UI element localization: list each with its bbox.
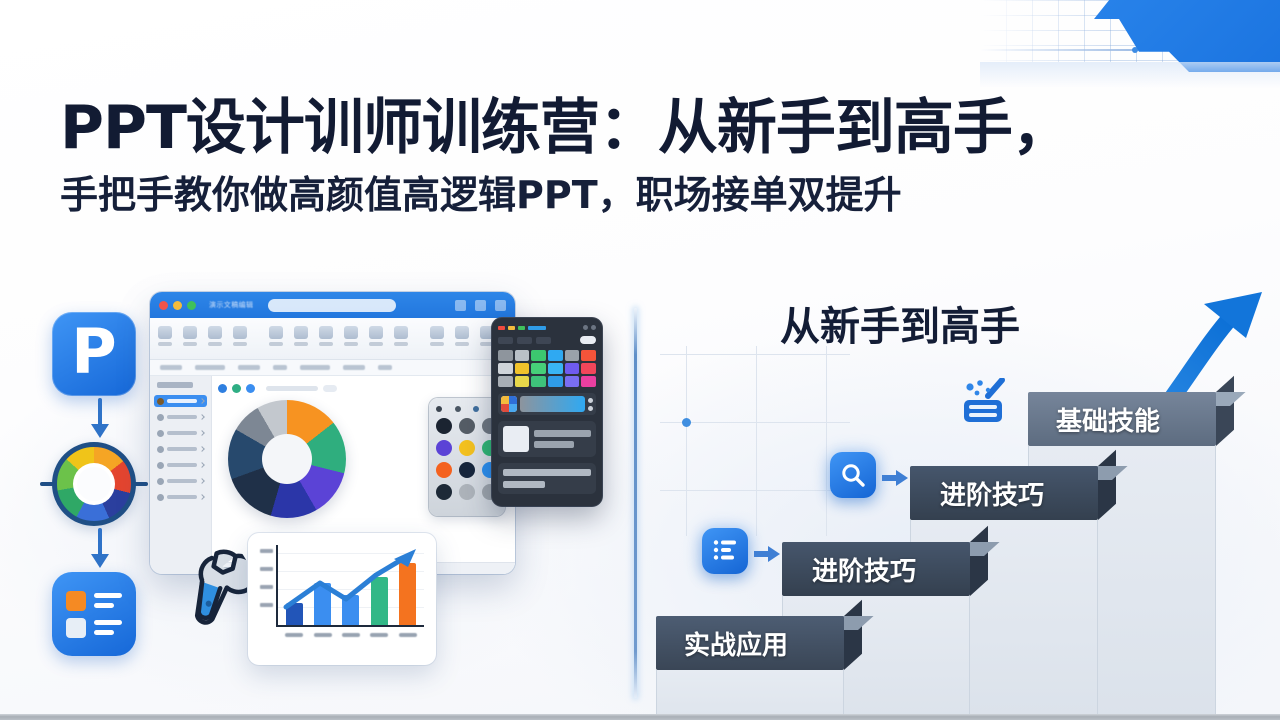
hairline (980, 49, 1140, 51)
x-label (370, 633, 388, 637)
wheel-center (77, 467, 111, 501)
tab-view[interactable] (378, 365, 392, 370)
brush-icon[interactable] (208, 326, 222, 352)
sidebar-item-label (167, 415, 197, 419)
panel-chip (498, 326, 505, 330)
tab-transition[interactable] (273, 365, 287, 370)
palette-cell[interactable] (498, 363, 513, 374)
preview-line (534, 441, 574, 448)
step-riser-1 (656, 670, 844, 720)
chevron-right-icon (199, 462, 205, 468)
bar-chart-card (248, 533, 436, 665)
detail-line (503, 469, 591, 476)
titlebar-actions (455, 300, 506, 311)
sidebar-bullet-icon (157, 414, 164, 421)
page-title: PPT设计训师训练营：从新手到高手， (60, 96, 1240, 161)
chevron-right-icon (199, 478, 205, 484)
palette-cell[interactable] (581, 350, 596, 361)
palette-cell[interactable] (515, 376, 530, 387)
redo-icon[interactable] (455, 326, 469, 352)
detail-line (503, 481, 545, 488)
sidebar-item-label (167, 479, 197, 483)
swatch-mini[interactable] (473, 406, 479, 412)
sidebar-item-5[interactable] (154, 475, 207, 487)
swatch-mini-row (436, 406, 498, 412)
chart-icon[interactable] (369, 326, 383, 352)
swatch-mini[interactable] (455, 406, 461, 412)
ribbon-tabs[interactable] (150, 360, 515, 376)
grid-line-vertical (686, 346, 687, 536)
shape-icon[interactable] (269, 326, 283, 352)
swatch[interactable] (459, 418, 475, 434)
layout-line (94, 620, 122, 625)
window-titlebar[interactable]: 演示文稿编辑 (150, 292, 515, 318)
palette-cell[interactable] (565, 363, 580, 374)
ribbon-toolbar[interactable] (150, 318, 515, 360)
gradient-stops[interactable] (588, 398, 593, 411)
x-label (314, 633, 332, 637)
bar (342, 595, 359, 625)
left-panel: P (0, 280, 630, 700)
growth-headline: 从新手到高手 (780, 294, 1020, 352)
swatch[interactable] (459, 484, 475, 500)
color-wheel-icon[interactable] (52, 442, 136, 526)
y-axis (276, 545, 278, 627)
search-icon-upper[interactable] (830, 452, 876, 498)
poster-canvas: PPT设计训师训练营：从新手到高手， 手把手教你做高颜值高逻辑PPT，职场接单双… (0, 0, 1280, 720)
preview-lines (534, 426, 591, 452)
layout-row-2 (66, 618, 122, 638)
chevron-right-icon (199, 494, 205, 500)
grid-line-vertical (756, 346, 757, 536)
palette-cell[interactable] (531, 376, 546, 387)
panel-tab-swatches[interactable] (498, 337, 513, 344)
arrow-right-icon-upper (882, 470, 908, 486)
grid-node-dot (682, 418, 691, 427)
grid-line-horizontal (660, 354, 850, 355)
swatch[interactable] (436, 484, 452, 500)
icon-flow-column: P (52, 312, 148, 656)
flow-arrow-down-2 (52, 526, 148, 572)
chevron-right-icon (199, 398, 205, 404)
corner-decoration (980, 0, 1280, 86)
app-window[interactable]: 演示文稿编辑 (150, 292, 515, 574)
swatch-preview-icon (501, 396, 517, 412)
preview-thumbnail (503, 426, 529, 452)
layout-square-accent (66, 591, 86, 611)
wheel-tick-right (134, 482, 148, 486)
right-panel: 从新手到高手 基础技能 (640, 280, 1280, 710)
paste-icon[interactable] (158, 326, 172, 352)
search-icon (840, 462, 866, 488)
bar (286, 603, 303, 625)
tool-select-icon[interactable] (218, 384, 227, 393)
grid-line-horizontal (660, 490, 850, 491)
panel-toggle[interactable] (580, 336, 596, 344)
y-axis-tick (260, 567, 273, 571)
gradient-stop[interactable] (588, 406, 593, 411)
swatch[interactable] (436, 462, 452, 478)
step-label-2[interactable]: 进阶技巧 (782, 542, 970, 596)
step-label-3[interactable]: 进阶技巧 (910, 466, 1098, 520)
x-label (342, 633, 360, 637)
sidebar-item-label (167, 447, 197, 451)
share-icon[interactable] (455, 300, 466, 311)
canvas-toolbar[interactable] (218, 382, 509, 394)
palette-cell[interactable] (515, 363, 530, 374)
palette-grid[interactable] (498, 350, 596, 387)
chevron-right-icon (199, 414, 205, 420)
sidebar-bullet-icon (157, 494, 164, 501)
swatch-row (436, 418, 498, 434)
image-icon[interactable] (319, 326, 333, 352)
cut-icon[interactable] (183, 326, 197, 352)
step-2: 进阶技巧 (782, 542, 970, 596)
chart-plot-area (260, 545, 424, 639)
panel-chip (518, 326, 525, 330)
y-axis-tick (260, 549, 273, 553)
palette-cell[interactable] (565, 376, 580, 387)
list-form-icon (711, 537, 739, 565)
layout-square-plain (66, 618, 86, 638)
bar (314, 583, 331, 625)
panel-tabs[interactable] (498, 336, 596, 344)
palette-cell[interactable] (581, 376, 596, 387)
swatch-row (436, 440, 498, 456)
swatch-mini[interactable] (436, 406, 442, 412)
bottom-rail (0, 714, 1280, 720)
preview-card (498, 421, 596, 457)
maximize-icon[interactable] (187, 301, 196, 310)
palette-cell[interactable] (531, 350, 546, 361)
tab-insert[interactable] (195, 365, 225, 370)
gradient-bar[interactable] (520, 396, 585, 412)
bar (371, 577, 388, 625)
chevron-right-icon (199, 430, 205, 436)
step-label-4[interactable]: 基础技能 (1028, 392, 1216, 446)
sidebar-item-label (167, 495, 197, 499)
table-icon[interactable] (344, 326, 358, 352)
page-subtitle: 手把手教你做高颜值高逻辑PPT，职场接单双提升 (60, 171, 1240, 220)
step-1: 实战应用 (656, 616, 844, 670)
search-input[interactable] (268, 299, 396, 312)
headline-block: PPT设计训师训练营：从新手到高手， 手把手教你做高颜值高逻辑PPT，职场接单双… (60, 96, 1240, 219)
tool-shape-icon[interactable] (232, 384, 241, 393)
layout-line (94, 630, 114, 635)
step-4: 基础技能 (1028, 392, 1216, 446)
panel-tab-gradients[interactable] (517, 337, 532, 344)
swatch[interactable] (459, 462, 475, 478)
sidebar-item-6[interactable] (154, 491, 207, 503)
layout-line (94, 603, 114, 608)
panel-chip (508, 326, 515, 330)
step-label-1[interactable]: 实战应用 (656, 616, 844, 670)
swatch[interactable] (459, 440, 475, 456)
undo-icon[interactable] (430, 326, 444, 352)
flow-arrow-down-1 (52, 396, 148, 442)
sidebar-item-1[interactable] (154, 411, 207, 423)
panel-chip-active (528, 326, 546, 330)
bar (399, 563, 416, 625)
fade-overlay (980, 62, 1280, 88)
x-label (285, 633, 303, 637)
palette-cell[interactable] (548, 350, 563, 361)
sidebar-item-0[interactable] (154, 395, 207, 407)
sidebar-item-label (167, 399, 197, 403)
y-axis-tick (260, 585, 273, 589)
palette-cell[interactable] (531, 363, 546, 374)
panel-header (498, 325, 596, 330)
palette-cell[interactable] (581, 363, 596, 374)
sidebar-item-2[interactable] (154, 427, 207, 439)
swatch-row (436, 484, 498, 500)
panel-close-icon[interactable] (591, 325, 596, 330)
list-form-icon-wrap[interactable] (702, 528, 748, 574)
layout-icon[interactable] (52, 572, 136, 656)
sparkle-wand-icon (958, 378, 1010, 424)
palette-cell[interactable] (498, 350, 513, 361)
swatch[interactable] (436, 440, 452, 456)
palette-cell[interactable] (565, 350, 580, 361)
present-icon[interactable] (475, 300, 486, 311)
layout-line (94, 593, 122, 598)
powerpoint-letter: P (71, 321, 116, 383)
chevron-right-icon (199, 446, 205, 452)
account-icon[interactable] (495, 300, 506, 311)
tab-home[interactable] (160, 365, 182, 370)
panel-tab-custom[interactable] (536, 337, 551, 344)
sidebar-item-3[interactable] (154, 443, 207, 455)
close-icon[interactable] (159, 301, 168, 310)
align-icon[interactable] (294, 326, 308, 352)
sidebar-heading (157, 382, 193, 388)
sidebar-bullet-icon (157, 478, 164, 485)
donut-chart (228, 400, 346, 518)
gradient-picker[interactable] (498, 393, 596, 415)
sidebar-item-label (167, 431, 197, 435)
sidebar-bullet-icon (157, 398, 164, 405)
palette-cell[interactable] (548, 363, 563, 374)
palette-cell[interactable] (515, 350, 530, 361)
detail-card (498, 463, 596, 494)
sidebar-item-label (167, 463, 197, 467)
palette-cell[interactable] (548, 376, 563, 387)
sidebar-bullet-icon (157, 446, 164, 453)
x-axis-labels (280, 630, 422, 639)
minimize-icon[interactable] (173, 301, 182, 310)
sidebar-bullet-icon (157, 462, 164, 469)
y-axis-tick (260, 603, 273, 607)
toolbar-pill[interactable] (323, 385, 337, 392)
gradient-stop[interactable] (588, 398, 593, 403)
sidebar-item-4[interactable] (154, 459, 207, 471)
tab-review[interactable] (343, 365, 365, 370)
swatch-row (436, 462, 498, 478)
swatch[interactable] (436, 418, 452, 434)
vertical-divider (634, 308, 637, 698)
x-axis (276, 625, 424, 627)
toolbar-field[interactable] (266, 386, 318, 391)
preview-line (534, 430, 591, 437)
layout-row-1 (66, 591, 122, 611)
background-grid (660, 346, 850, 536)
color-editor-panel[interactable] (492, 318, 602, 506)
tab-design[interactable] (238, 365, 260, 370)
tool-text-icon[interactable] (246, 384, 255, 393)
step-3: 进阶技巧 (910, 466, 1098, 520)
grid-line-vertical (826, 346, 827, 536)
window-title: 演示文稿编辑 (209, 300, 253, 310)
tab-animation[interactable] (300, 365, 330, 370)
arrow-right-icon-lower (754, 546, 780, 562)
palette-cell[interactable] (498, 376, 513, 387)
panel-minimize-icon[interactable] (583, 325, 588, 330)
animation-icon[interactable] (394, 326, 408, 352)
layout-lines-2 (94, 620, 122, 635)
sidebar-bullet-icon (157, 430, 164, 437)
donut-center (262, 434, 312, 484)
layout-lines-1 (94, 593, 122, 608)
bar-series (280, 557, 422, 625)
x-label (399, 633, 417, 637)
powerpoint-icon[interactable]: P (52, 312, 136, 396)
gridline (278, 553, 424, 554)
text-icon[interactable] (233, 326, 247, 352)
